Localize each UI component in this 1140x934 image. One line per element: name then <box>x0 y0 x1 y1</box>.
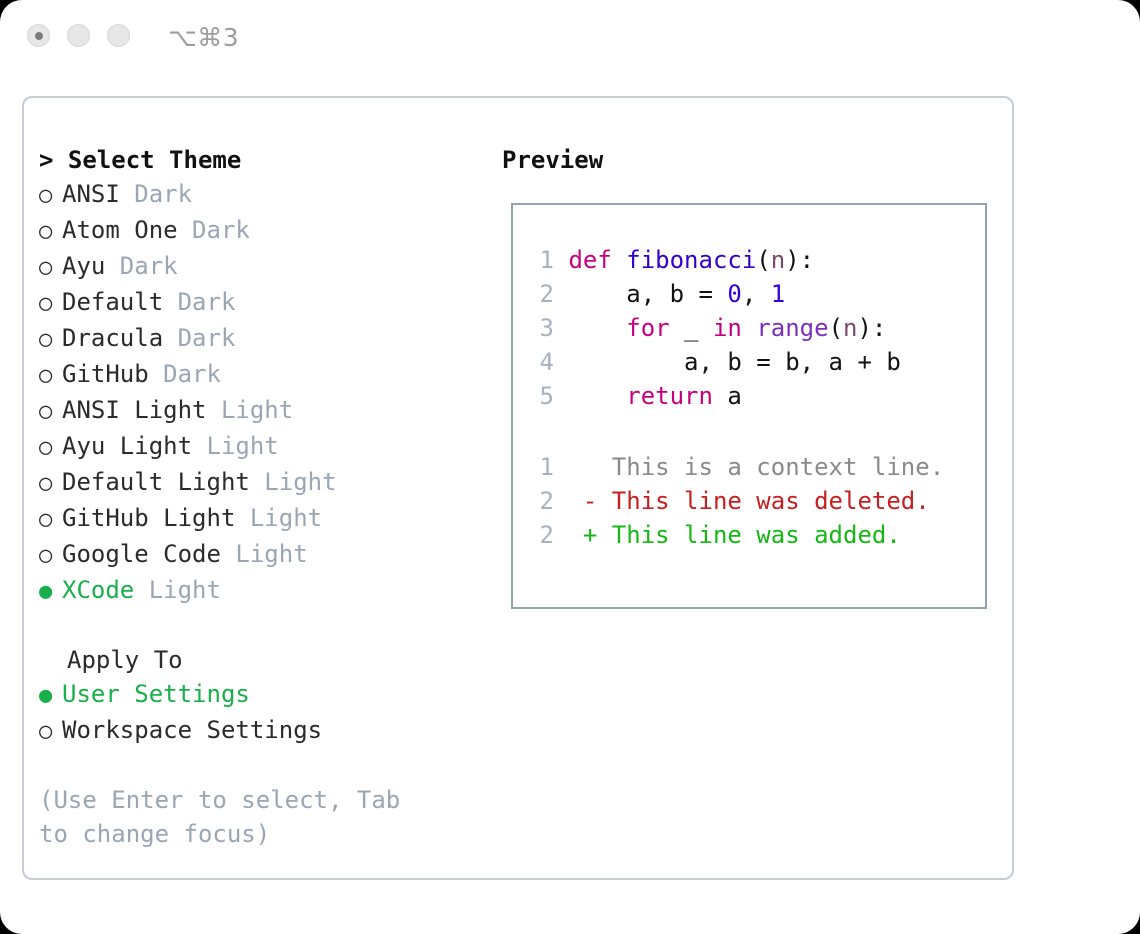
theme-option-kind: Dark <box>178 285 236 319</box>
code-token: def <box>568 246 626 274</box>
code-token: 1 <box>771 280 785 308</box>
code-token: ( <box>829 314 843 342</box>
radio-unselected-icon: ○ <box>39 179 62 213</box>
radio-unselected-icon: ○ <box>39 287 62 321</box>
radio-unselected-icon: ○ <box>39 215 62 249</box>
keyboard-hint: (Use Enter to select, Tab to change focu… <box>39 783 439 851</box>
theme-option-label: XCode <box>62 573 149 607</box>
code-preview: 1 def fibonacci(n):2 a, b = 0, 13 for _ … <box>528 243 901 413</box>
spacer <box>39 609 499 643</box>
window-dot-third[interactable] <box>107 24 130 47</box>
code-line-number: 2 <box>528 277 554 311</box>
theme-option-kind: Dark <box>178 321 236 355</box>
radio-selected-icon: ● <box>39 679 62 713</box>
theme-option-ayu[interactable]: ○Ayu Dark <box>39 249 499 285</box>
theme-option-label: Dracula <box>62 321 178 355</box>
diff-line-number: 1 <box>528 450 554 484</box>
theme-option-kind: Dark <box>192 213 250 247</box>
window-dot-active[interactable] <box>27 24 50 47</box>
preview-header: Preview <box>502 143 603 177</box>
code-token: in <box>713 314 742 342</box>
code-line: 1 def fibonacci(n): <box>528 243 901 277</box>
apply-to-option-workspace-settings[interactable]: ○Workspace Settings <box>39 713 499 749</box>
theme-option-label: Default <box>62 285 178 319</box>
apply-to-header: Apply To <box>39 643 499 677</box>
radio-unselected-icon: ○ <box>39 251 62 285</box>
diff-line-number: 2 <box>528 484 554 518</box>
code-token: n <box>843 314 857 342</box>
code-token: 0 <box>727 280 741 308</box>
code-token: range <box>756 314 828 342</box>
code-token <box>742 314 756 342</box>
theme-option-kind: Light <box>207 429 279 463</box>
code-line: 3 for _ in range(n): <box>528 311 901 345</box>
theme-option-ayu-light[interactable]: ○Ayu Light Light <box>39 429 499 465</box>
theme-option-github-light[interactable]: ○GitHub Light Light <box>39 501 499 537</box>
theme-option-kind: Dark <box>134 177 192 211</box>
theme-list: ○ANSI Dark○Atom One Dark○Ayu Dark○Defaul… <box>39 177 499 609</box>
select-theme-header: > Select Theme <box>39 143 499 177</box>
theme-selection-column: > Select Theme ○ANSI Dark○Atom One Dark○… <box>39 143 499 851</box>
code-token: for <box>626 314 669 342</box>
diff-sign <box>583 453 597 481</box>
theme-option-atom-one[interactable]: ○Atom One Dark <box>39 213 499 249</box>
code-token: , <box>742 280 771 308</box>
diff-sign: - <box>583 487 597 515</box>
diff-line-context: 1 This is a context line. <box>528 450 944 484</box>
diff-line-deleted: 2 - This line was deleted. <box>528 484 944 518</box>
theme-option-kind: Light <box>221 393 293 427</box>
preview-panel: 1 def fibonacci(n):2 a, b = 0, 13 for _ … <box>511 203 987 609</box>
code-line-number: 3 <box>528 311 554 345</box>
theme-option-xcode[interactable]: ●XCode Light <box>39 573 499 609</box>
radio-unselected-icon: ○ <box>39 431 62 465</box>
theme-option-google-code[interactable]: ○Google Code Light <box>39 537 499 573</box>
theme-option-kind: Light <box>250 501 322 535</box>
code-token: return <box>626 382 713 410</box>
code-line-number: 1 <box>528 243 554 277</box>
window-dot-inner <box>35 32 43 40</box>
code-token: _ <box>670 314 713 342</box>
code-token: ): <box>857 314 886 342</box>
radio-unselected-icon: ○ <box>39 359 62 393</box>
diff-text: This is a context line. <box>597 453 944 481</box>
code-line-number: 4 <box>528 345 554 379</box>
radio-selected-icon: ● <box>39 575 62 609</box>
apply-to-list: ●User Settings○Workspace Settings <box>39 677 499 749</box>
theme-option-label: GitHub <box>62 357 163 391</box>
code-line: 5 return a <box>528 379 901 413</box>
theme-option-default-light[interactable]: ○Default Light Light <box>39 465 499 501</box>
diff-sign: + <box>583 521 597 549</box>
diff-line-added: 2 + This line was added. <box>528 518 944 552</box>
radio-unselected-icon: ○ <box>39 539 62 573</box>
apply-to-option-label: Workspace Settings <box>62 713 322 747</box>
theme-option-label: ANSI <box>62 177 134 211</box>
theme-option-label: Default Light <box>62 465 264 499</box>
code-token: ( <box>756 246 770 274</box>
radio-unselected-icon: ○ <box>39 467 62 501</box>
diff-line-number: 2 <box>528 518 554 552</box>
theme-option-kind: Dark <box>163 357 221 391</box>
code-token: a, b = b, a + b <box>568 348 900 376</box>
radio-unselected-icon: ○ <box>39 503 62 537</box>
theme-option-kind: Light <box>149 573 221 607</box>
code-token: a, b = <box>568 280 727 308</box>
keyboard-shortcut-label: ⌥⌘3 <box>168 23 239 53</box>
window-controls <box>27 24 130 47</box>
radio-unselected-icon: ○ <box>39 395 62 429</box>
code-token: n <box>771 246 785 274</box>
code-token: ): <box>785 246 814 274</box>
code-line: 4 a, b = b, a + b <box>528 345 901 379</box>
theme-option-label: GitHub Light <box>62 501 250 535</box>
theme-picker-dialog: > Select Theme ○ANSI Dark○Atom One Dark○… <box>22 96 1014 880</box>
theme-option-ansi[interactable]: ○ANSI Dark <box>39 177 499 213</box>
theme-option-label: Ayu Light <box>62 429 207 463</box>
theme-option-label: ANSI Light <box>62 393 221 427</box>
code-line: 2 a, b = 0, 1 <box>528 277 901 311</box>
diff-text: This line was deleted. <box>597 487 929 515</box>
code-token <box>568 314 626 342</box>
theme-option-label: Google Code <box>62 537 235 571</box>
radio-unselected-icon: ○ <box>39 715 62 749</box>
title-bar: ⌥⌘3 <box>0 0 1140 78</box>
theme-option-label: Atom One <box>62 213 192 247</box>
code-token: fibonacci <box>626 246 756 274</box>
theme-option-github[interactable]: ○GitHub Dark <box>39 357 499 393</box>
theme-option-ansi-light[interactable]: ○ANSI Light Light <box>39 393 499 429</box>
theme-option-kind: Light <box>264 465 336 499</box>
theme-option-default[interactable]: ○Default Dark <box>39 285 499 321</box>
code-line-number: 5 <box>528 379 554 413</box>
code-token: a <box>713 382 742 410</box>
diff-preview: 1 This is a context line.2 - This line w… <box>528 450 944 552</box>
radio-unselected-icon: ○ <box>39 323 62 357</box>
theme-option-kind: Dark <box>120 249 178 283</box>
app-window: ⌥⌘3 > Select Theme ○ANSI Dark○Atom One D… <box>0 0 1140 934</box>
diff-text: This line was added. <box>597 521 900 549</box>
code-token <box>568 382 626 410</box>
apply-to-option-label: User Settings <box>62 677 250 711</box>
window-dot-second[interactable] <box>67 24 90 47</box>
theme-option-dracula[interactable]: ○Dracula Dark <box>39 321 499 357</box>
theme-option-label: Ayu <box>62 249 120 283</box>
apply-to-option-user-settings[interactable]: ●User Settings <box>39 677 499 713</box>
theme-option-kind: Light <box>235 537 307 571</box>
